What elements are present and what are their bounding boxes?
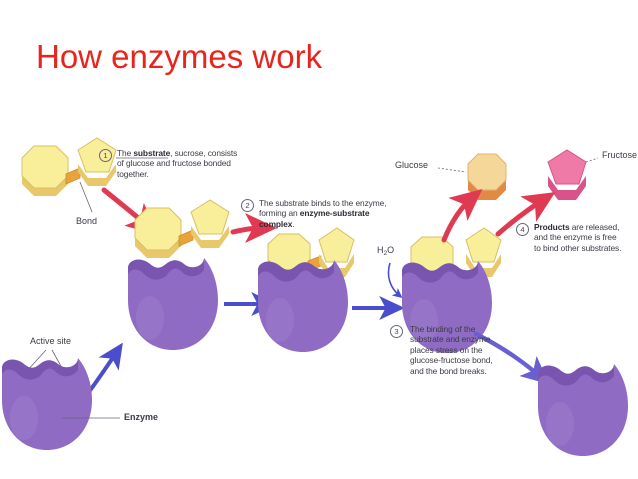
step2-line3-a: complex	[259, 219, 292, 229]
step4-line3: to bind other substrates.	[534, 243, 621, 253]
arrow-release-glucose	[444, 196, 474, 240]
step-text-2: The substrate binds to the enzyme, formi…	[259, 198, 423, 229]
label-active-site: Active site	[30, 336, 71, 346]
label-bond: Bond	[76, 216, 97, 226]
step4-line2: and the enzyme is free	[534, 232, 617, 242]
step3-line4: glucose-fructose bond,	[410, 355, 493, 365]
step1-line1-a: The	[117, 148, 133, 158]
step-number-1: 1	[99, 149, 112, 162]
substrate-approaching	[135, 200, 229, 258]
step4-line1-a: Products	[534, 222, 570, 232]
step2-line2-b: enzyme-substrate	[300, 208, 370, 218]
step1-line1-c: , sucrose, consists	[170, 148, 237, 158]
glucose-leader-line	[438, 168, 466, 172]
bond-leader-line	[80, 182, 92, 212]
step2-line2-a: forming an	[259, 208, 300, 218]
step-text-3: The binding of the substrate and enzyme …	[410, 324, 550, 376]
step-text-4: Products are released, and the enzyme is…	[534, 222, 638, 253]
step3-line5: and the bond breaks.	[410, 366, 487, 376]
page-title: How enzymes work	[36, 38, 322, 76]
substrate-free	[22, 138, 116, 196]
enzyme-free-upper	[128, 258, 218, 350]
arrow-water-input	[388, 263, 400, 296]
step1-line3: together.	[117, 169, 149, 179]
label-water: H2O	[377, 245, 394, 257]
step2-line1: The substrate binds to the enzyme,	[259, 198, 386, 208]
label-enzyme: Enzyme	[124, 412, 158, 422]
step-number-2: 2	[241, 199, 254, 212]
step-number-4: 4	[516, 223, 529, 236]
product-glucose	[468, 154, 506, 200]
water-o: O	[387, 245, 394, 255]
enzyme-free-lower	[2, 358, 92, 450]
enzyme-substrate-complex	[258, 228, 354, 352]
step-number-3: 3	[390, 325, 403, 338]
slide-canvas: How enzymes work	[0, 0, 638, 479]
enzyme-free-recycled	[538, 364, 628, 456]
step2-line3-b: .	[292, 219, 294, 229]
step3-line3: places stress on the	[410, 345, 482, 355]
step4-line1-b: are released,	[570, 222, 620, 232]
diagram-graphics	[0, 128, 638, 479]
enzyme-diagram: 1 The substrate, sucrose, consists of gl…	[0, 128, 638, 479]
fructose-leader-line	[586, 158, 598, 162]
step3-line2: substrate and enzyme	[410, 334, 490, 344]
step1-line2: of glucose and fructose bonded	[117, 158, 231, 168]
label-glucose: Glucose	[395, 160, 428, 170]
step3-line1: The binding of the	[410, 324, 475, 334]
step-text-1: The substrate, sucrose, consists of gluc…	[117, 148, 277, 179]
product-fructose	[548, 150, 586, 200]
label-fructose: Fructose	[602, 150, 637, 160]
step1-line1-b: substrate	[133, 148, 170, 158]
